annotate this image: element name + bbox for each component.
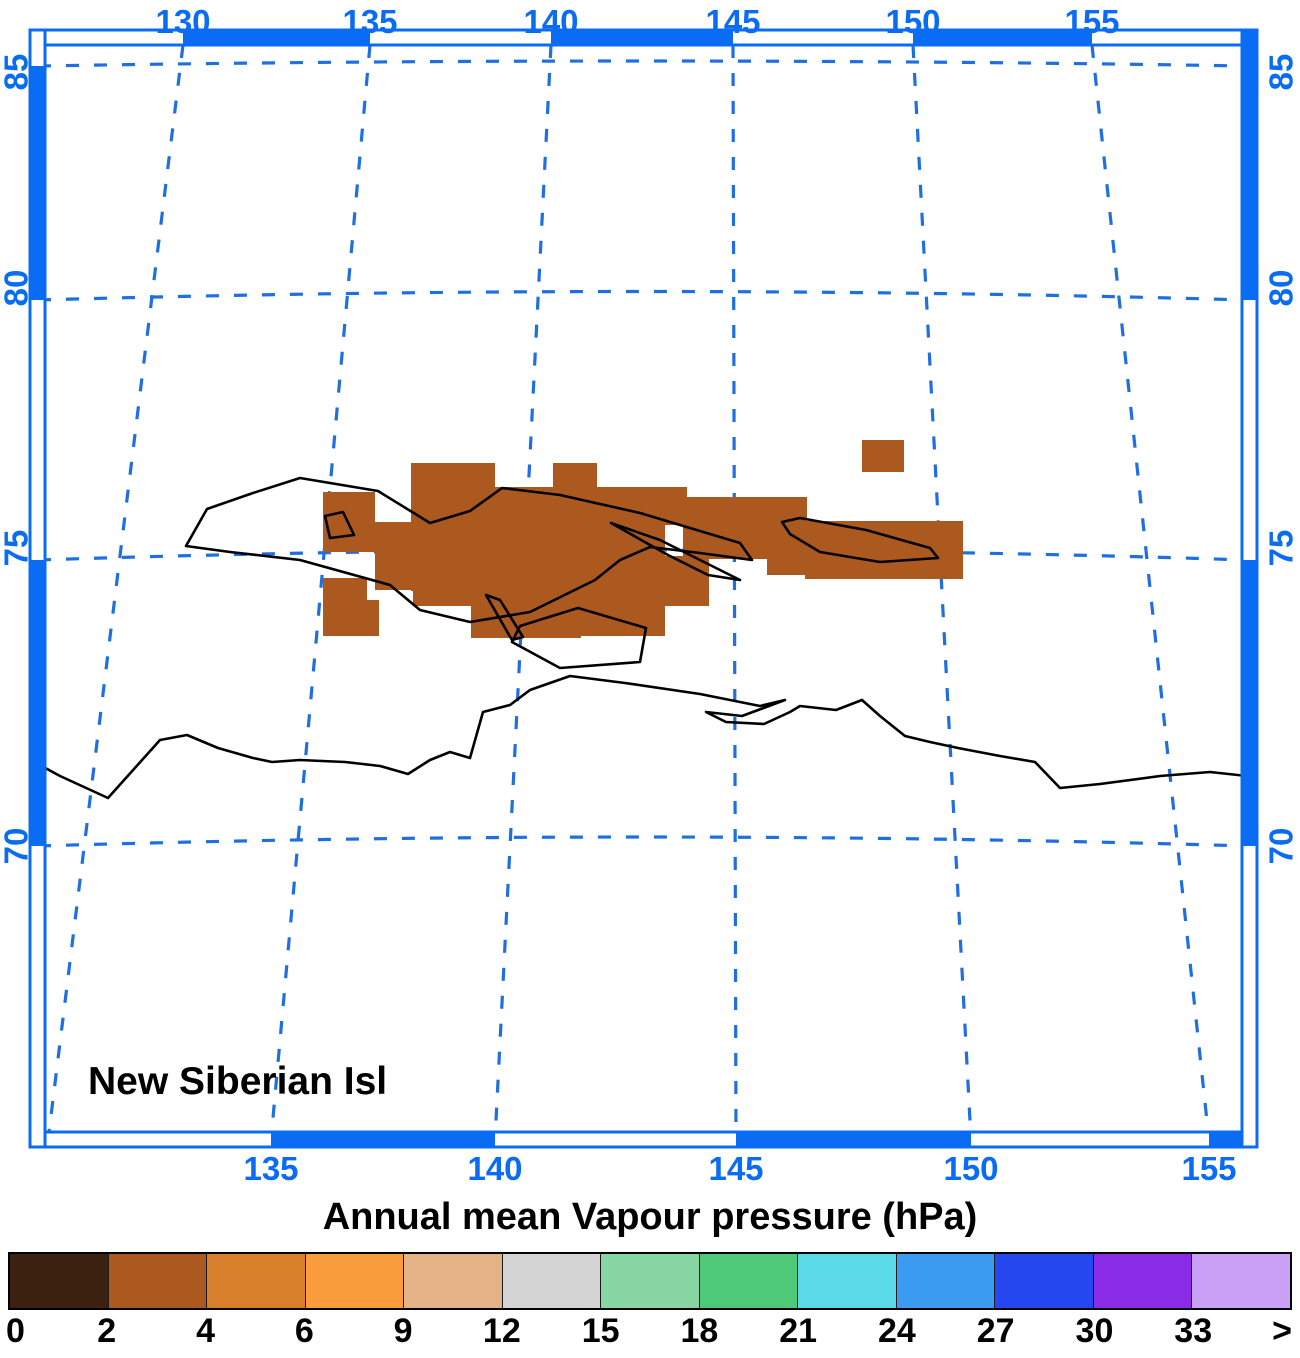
lat-label-right-85: 85 (1265, 54, 1298, 91)
colorbar-wrap[interactable] (8, 1252, 1292, 1310)
lon-label-bottom-140: 140 (467, 1152, 522, 1185)
lat-label-right-70: 70 (1265, 828, 1298, 865)
lat-label-right-80: 80 (1265, 270, 1298, 307)
colorbar-segment-6[interactable] (601, 1254, 700, 1308)
lon-label-top-135: 135 (342, 5, 397, 38)
lon-label-top-150: 150 (885, 5, 940, 38)
colorbar-title: Annual mean Vapour pressure (hPa) (0, 1196, 1300, 1239)
map-panel[interactable]: 130 135 140 145 150 155 135 140 145 150 … (0, 0, 1300, 1190)
colorbar-tick-11: 30 (1076, 1314, 1114, 1348)
colorbar-tick-5: 12 (483, 1314, 521, 1348)
colorbar-tick-13: > (1272, 1314, 1292, 1348)
colorbar-tick-7: 18 (680, 1314, 718, 1348)
colorbar-tick-9: 24 (878, 1314, 916, 1348)
lon-label-bottom-135: 135 (243, 1152, 298, 1185)
colorbar-segment-3[interactable] (306, 1254, 405, 1308)
colorbar-segment-0[interactable] (10, 1254, 109, 1308)
lat-label-left-70: 70 (0, 828, 33, 865)
map-canvas[interactable] (0, 0, 1300, 1190)
map-figure: 130 135 140 145 150 155 135 140 145 150 … (0, 0, 1300, 1357)
colorbar-segment-8[interactable] (798, 1254, 897, 1308)
colorbar-tick-8: 21 (779, 1314, 817, 1348)
colorbar-segment-12[interactable] (1192, 1254, 1290, 1308)
colorbar-tick-1: 2 (97, 1314, 116, 1348)
colorbar-tick-4: 9 (394, 1314, 413, 1348)
colorbar-ticks: 024691215182124273033> (0, 1314, 1300, 1358)
colorbar-segment-4[interactable] (404, 1254, 503, 1308)
lon-label-bottom-150: 150 (943, 1152, 998, 1185)
lat-label-right-75: 75 (1265, 530, 1298, 567)
lat-label-left-80: 80 (0, 270, 33, 307)
colorbar[interactable] (8, 1252, 1292, 1310)
colorbar-tick-6: 15 (582, 1314, 620, 1348)
colorbar-segment-11[interactable] (1094, 1254, 1193, 1308)
colorbar-segment-10[interactable] (995, 1254, 1094, 1308)
axis-left-ticks (30, 30, 45, 1147)
colorbar-tick-0: 0 (6, 1314, 25, 1348)
axis-right-ticks (1242, 30, 1257, 1147)
colorbar-tick-12: 33 (1174, 1314, 1212, 1348)
lon-label-top-155: 155 (1064, 5, 1119, 38)
colorbar-segment-2[interactable] (207, 1254, 306, 1308)
colorbar-tick-2: 4 (196, 1314, 215, 1348)
lat-label-left-75: 75 (0, 530, 33, 567)
colorbar-segment-9[interactable] (897, 1254, 996, 1308)
lat-label-left-85: 85 (0, 54, 33, 91)
axis-bottom-ticks (30, 1132, 1257, 1147)
lon-label-bottom-155: 155 (1181, 1152, 1236, 1185)
region-name-label: New Siberian Isl (88, 1060, 387, 1104)
lon-label-top-145: 145 (705, 5, 760, 38)
colorbar-segment-5[interactable] (503, 1254, 602, 1308)
colorbar-segment-7[interactable] (700, 1254, 799, 1308)
lon-label-top-140: 140 (523, 5, 578, 38)
lon-label-top-130: 130 (155, 5, 210, 38)
colorbar-tick-3: 6 (295, 1314, 314, 1348)
lon-label-bottom-145: 145 (708, 1152, 763, 1185)
colorbar-tick-10: 27 (977, 1314, 1015, 1348)
colorbar-segment-1[interactable] (109, 1254, 208, 1308)
